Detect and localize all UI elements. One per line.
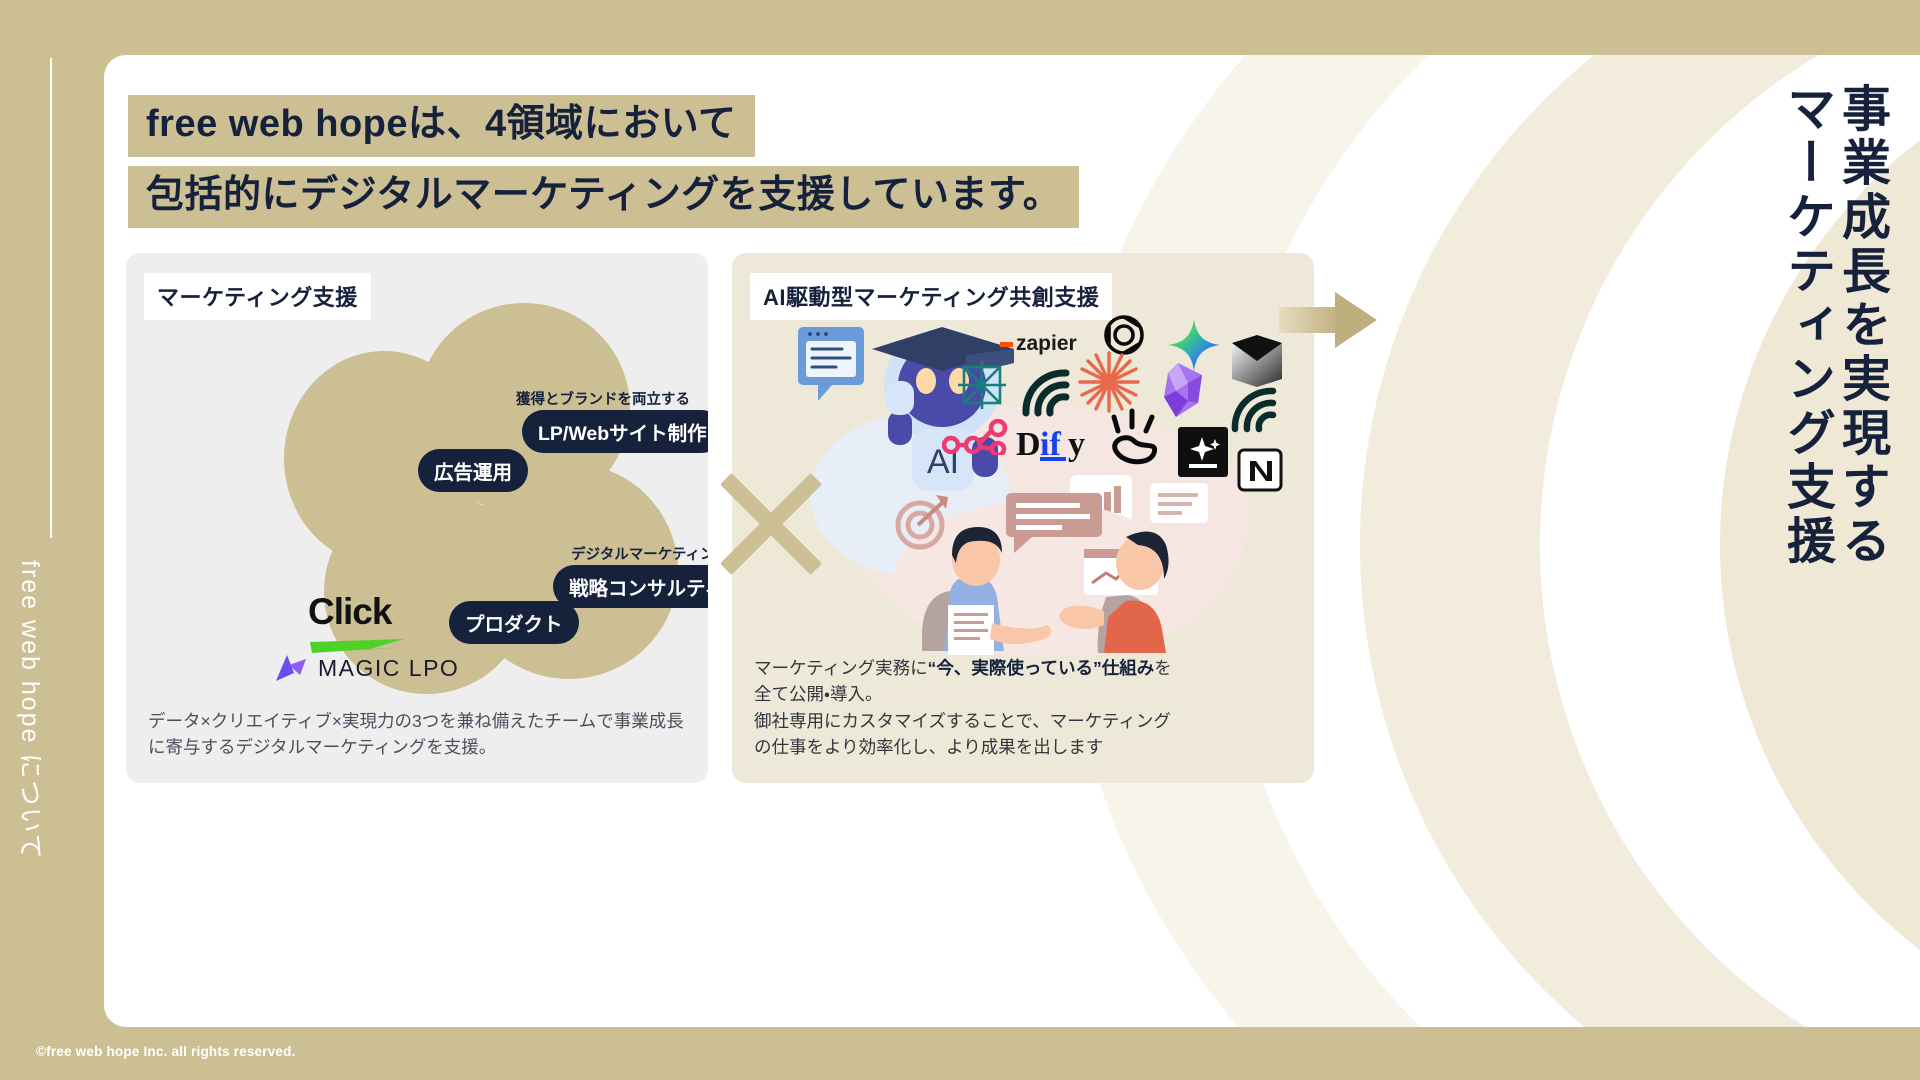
ai-desc-part-1: マーケティング実務に	[754, 658, 928, 678]
ai-desc-emphasis: “今、実際使っている”仕組み	[928, 658, 1155, 678]
svg-text:D: D	[1016, 426, 1041, 463]
rail-divider-line	[50, 58, 52, 538]
footer-copyright: ©free web hope Inc. all rights reserved.	[36, 1044, 296, 1059]
vertical-headline-col-1: 事業成長を実現する	[1837, 83, 1886, 569]
ai-scene-illustration: AI zapier	[778, 315, 1278, 655]
click-logo-underline-icon	[308, 633, 408, 655]
vertical-headline-col-2: マーケティング支援	[1782, 83, 1831, 569]
cross-separator-icon	[708, 461, 834, 587]
left-rail: free web hope について	[0, 0, 104, 1080]
claude-gem-icon	[1158, 361, 1212, 424]
card-title-marketing: マーケティング支援	[144, 273, 371, 320]
magic-lpo-mark-icon	[274, 653, 308, 683]
click-logo[interactable]: Click	[308, 593, 408, 660]
card-title-ai: AI駆動型マーケティング共創支援	[750, 273, 1112, 320]
clover-illustration: 獲得とブランドを両立する LP/Webサイト制作 広告運用 デジタルマーケティン…	[246, 293, 686, 663]
chat-document-icon	[796, 325, 872, 407]
headline-line-2: 包括的にデジタルマーケティングを支援しています。	[128, 166, 1079, 228]
card-description-ai: マーケティング実務に“今、実際使っている”仕組みを 全て公開・導入。 御社専用に…	[754, 628, 1299, 761]
card-marketing-support[interactable]: マーケティング支援 獲得とブランドを両立する LP/Webサイト制作 広告運用 …	[126, 253, 708, 783]
caption-lp-web: 獲得とブランドを両立する	[516, 388, 690, 409]
pill-ad-operation[interactable]: 広告運用	[418, 449, 528, 492]
pink-node-graph-icon	[942, 419, 1014, 460]
page-headline: free web hopeは、4領域において 包括的にデジタルマーケティングを支…	[128, 95, 1079, 237]
magic-lpo-logo[interactable]: MAGIC LPO	[274, 653, 459, 683]
svg-text:zapier: zapier	[1016, 332, 1077, 355]
flux-swirl-icon	[1100, 407, 1166, 474]
notion-logo-icon	[1236, 445, 1286, 500]
vertical-headline: 事業成長を実現する マーケティング支援	[1782, 83, 1886, 569]
rail-section-label: free web hope について	[14, 560, 50, 861]
magic-lpo-logo-text: MAGIC LPO	[318, 655, 459, 682]
pill-lp-web[interactable]: LP/Webサイト制作	[522, 410, 708, 453]
card-description-marketing: データ×クリエイティブ×実現力の3つを兼ね備えたチームで事業成長に寄与するデジタ…	[148, 708, 688, 761]
langchain-star-icon	[954, 357, 1010, 418]
page-card: free web hopeは、4領域において 包括的にデジタルマーケティングを支…	[104, 55, 1920, 1027]
zapier-logo-icon: zapier	[1000, 329, 1086, 360]
perplexity-wave-secondary-icon	[1230, 385, 1282, 438]
dify-logo-icon: D if y	[1016, 423, 1106, 468]
headline-line-1: free web hopeは、4領域において	[128, 95, 755, 157]
perplexity-wave-icon	[1020, 367, 1074, 422]
svg-text:y: y	[1068, 426, 1085, 463]
pill-product[interactable]: プロダクト	[449, 601, 579, 644]
click-logo-text: Click	[308, 593, 408, 630]
forward-arrow-icon	[1279, 292, 1375, 348]
pill-strategy-consulting[interactable]: 戦略コンサルティング	[553, 565, 708, 608]
stability-sparkle-box-icon	[1178, 427, 1228, 482]
caption-digital-marketing: デジタルマーケティング	[571, 543, 708, 564]
